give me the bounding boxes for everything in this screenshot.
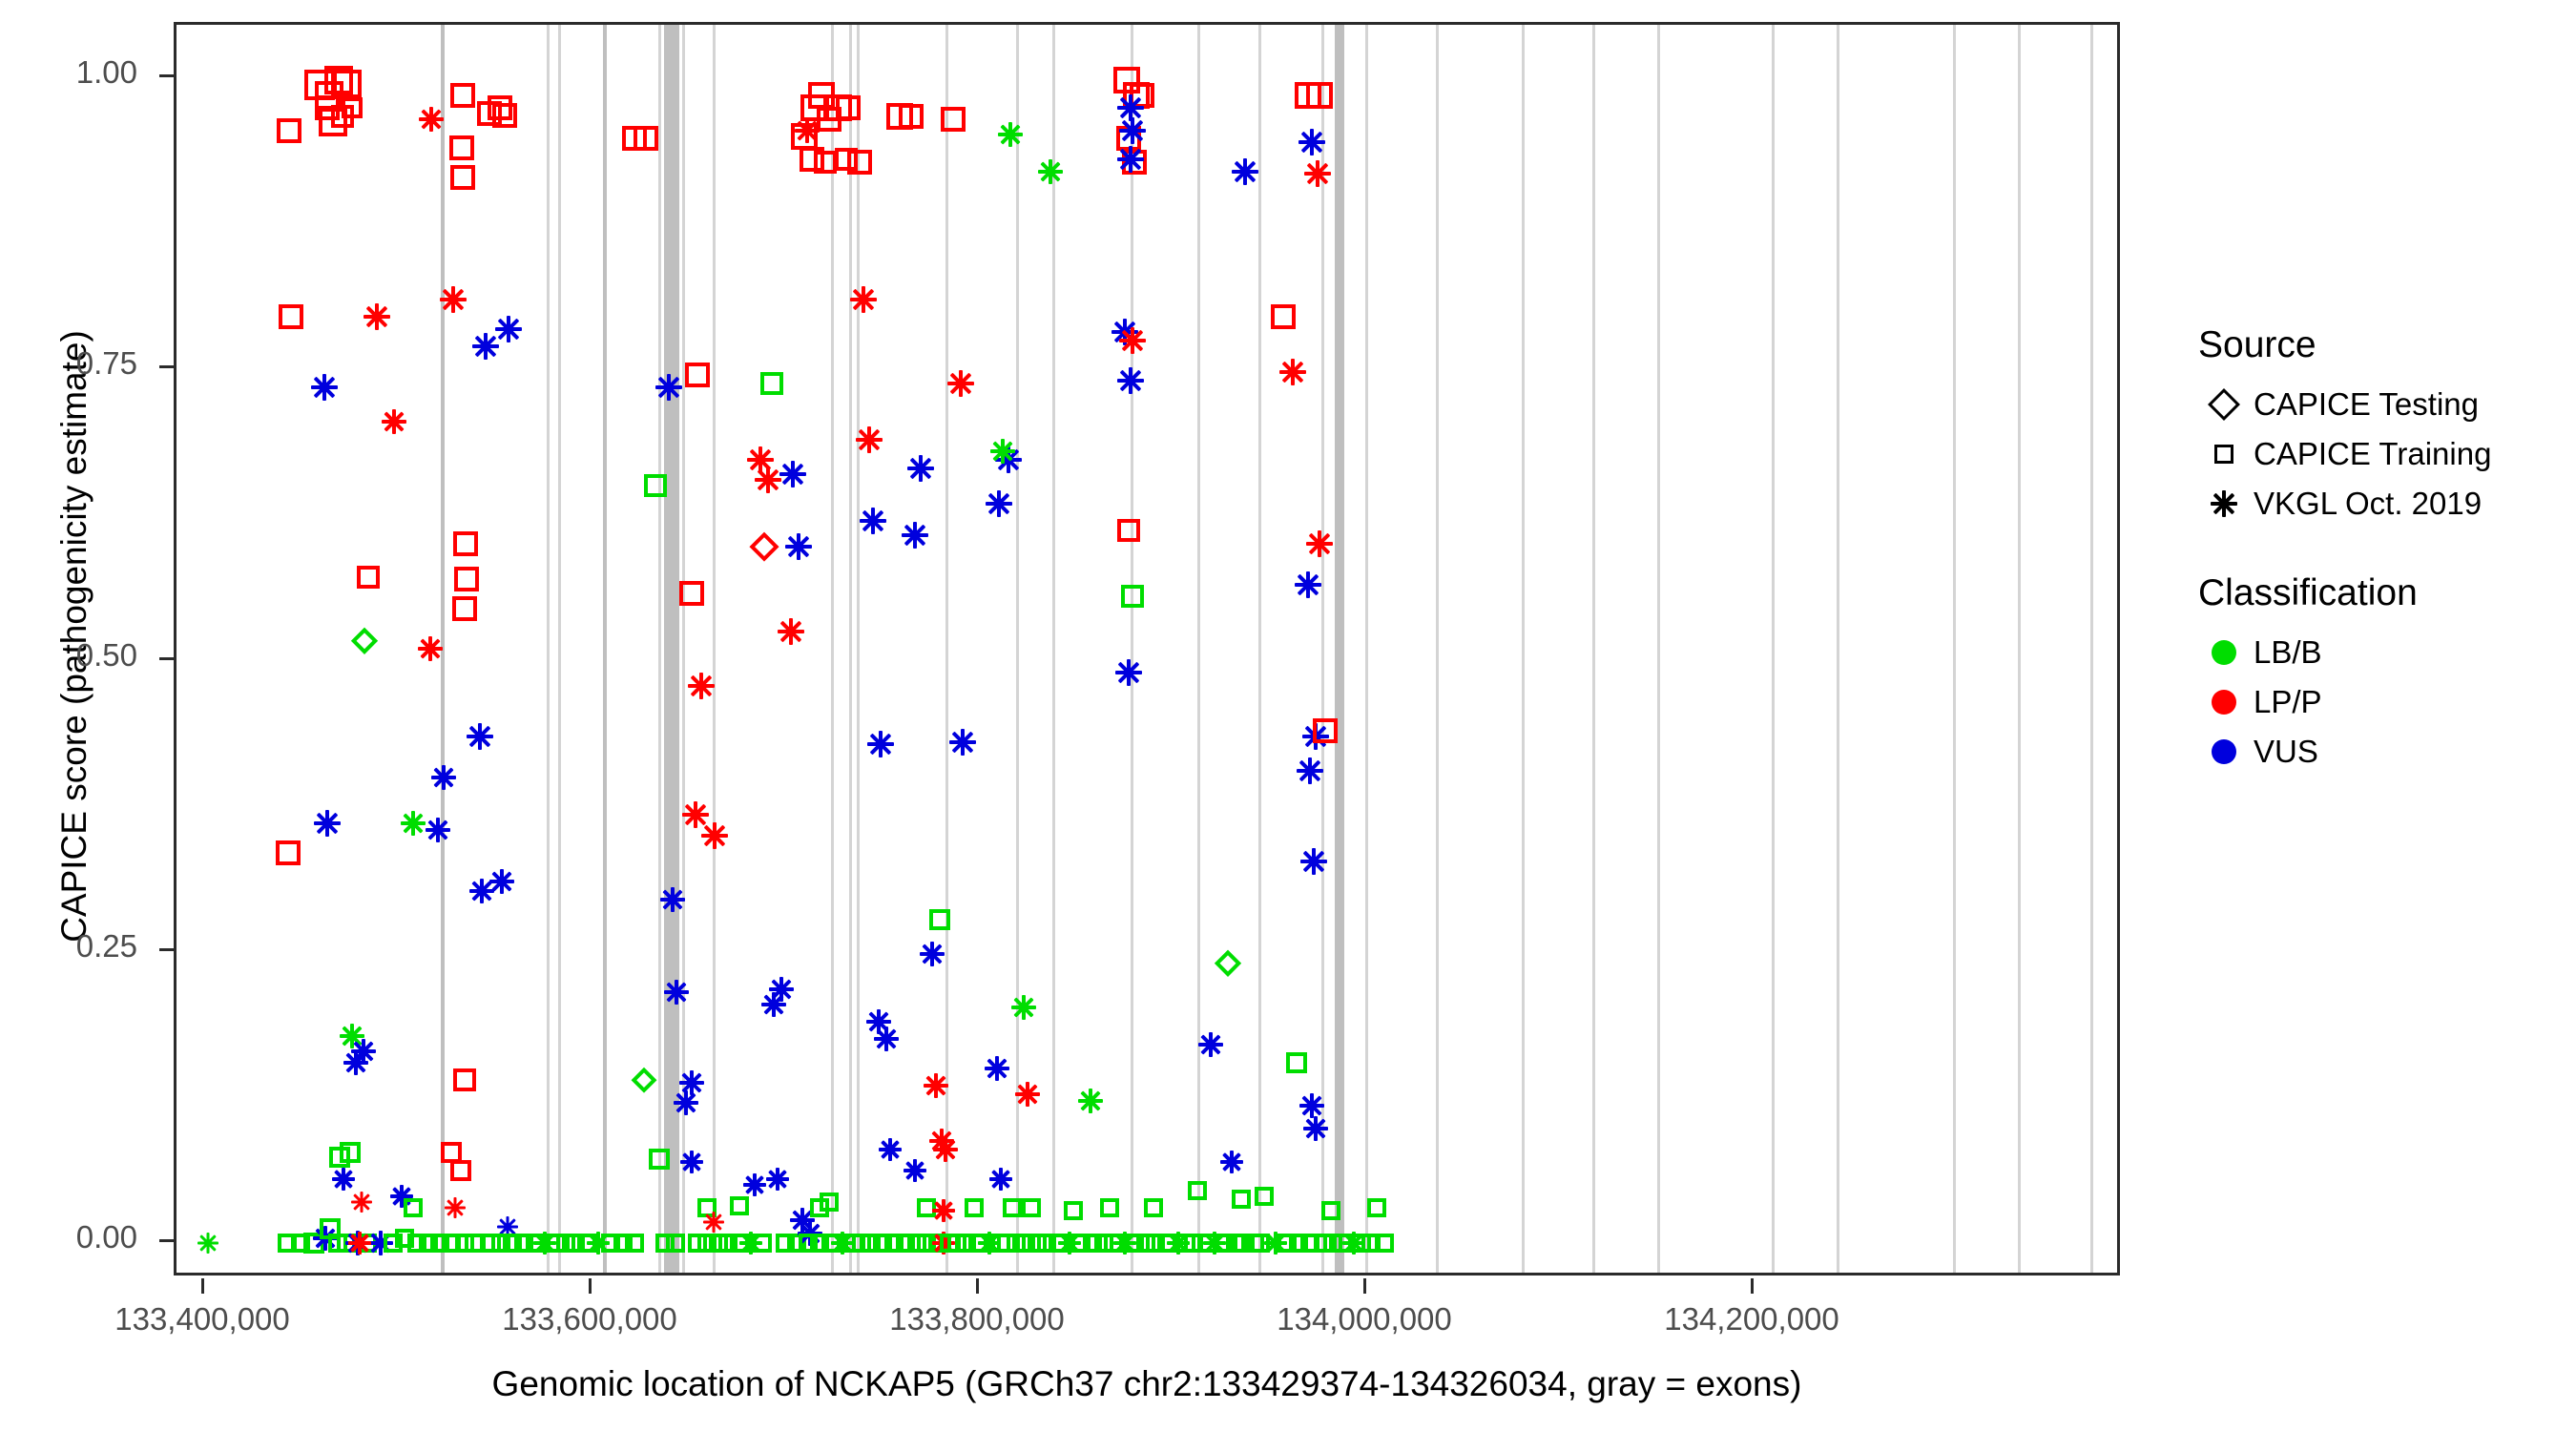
legend-spacer <box>2194 529 2576 572</box>
scatter-point <box>874 1027 899 1051</box>
scatter-point <box>303 1233 324 1254</box>
scatter-point <box>810 1234 829 1253</box>
scatter-point <box>779 461 806 487</box>
scatter-point <box>533 1232 556 1255</box>
scatter-point <box>430 1234 449 1253</box>
scatter-point <box>1300 1234 1319 1253</box>
scatter-point <box>1306 530 1333 557</box>
exon-band <box>1657 25 1660 1273</box>
scatter-point <box>419 1234 438 1253</box>
scatter-point <box>991 1234 1010 1253</box>
scatter-point <box>1038 159 1063 184</box>
scatter-point <box>688 673 715 699</box>
scatter-point <box>940 1234 959 1253</box>
scatter-point <box>320 1218 341 1239</box>
x-tick <box>976 1278 979 1294</box>
exon-band <box>713 25 716 1273</box>
x-tick <box>201 1278 204 1294</box>
x-tick <box>1363 1278 1366 1294</box>
y-tick <box>159 1239 174 1242</box>
scatter-point <box>778 618 804 645</box>
exon-band <box>1365 25 1368 1273</box>
scatter-point <box>311 374 338 401</box>
scatter-point <box>1361 1234 1381 1253</box>
scatter-point <box>957 1234 976 1253</box>
scatter-point <box>382 409 406 434</box>
scatter-point <box>1234 1234 1253 1253</box>
scatter-point <box>1226 1234 1245 1253</box>
scatter-point <box>747 446 774 473</box>
scatter-point <box>978 1232 1001 1255</box>
exon-band <box>658 25 661 1273</box>
scatter-point <box>907 1234 926 1253</box>
scatter-point <box>1064 1201 1083 1220</box>
scatter-point <box>332 1168 355 1191</box>
scatter-point <box>989 1168 1012 1191</box>
exon-band <box>1321 25 1324 1273</box>
scatter-point <box>333 70 362 98</box>
scatter-point <box>442 1234 461 1253</box>
scatter-point <box>1003 1198 1022 1217</box>
scatter-point <box>886 103 913 130</box>
exon-band <box>1131 25 1133 1273</box>
scatter-point <box>315 81 343 110</box>
scatter-point <box>1304 160 1331 187</box>
scatter-point <box>337 1234 356 1253</box>
scatter-point <box>351 1192 372 1213</box>
y-tick <box>159 365 174 368</box>
scatter-point <box>577 1234 596 1253</box>
scatter-point <box>850 286 877 313</box>
scatter-point <box>404 1198 423 1217</box>
scatter-point <box>753 1234 772 1253</box>
scatter-point <box>947 1234 966 1253</box>
scatter-point <box>452 596 477 621</box>
scatter-point <box>682 801 709 828</box>
scatter-point <box>730 1196 749 1215</box>
scatter-point <box>1303 1116 1328 1141</box>
scatter-point <box>1198 1032 1223 1057</box>
scatter-point <box>1123 82 1150 109</box>
scatter-point <box>688 1234 707 1253</box>
scatter-point <box>345 1231 370 1255</box>
scatter-point <box>453 531 478 556</box>
scatter-point <box>776 1234 795 1253</box>
scatter-point <box>454 567 479 591</box>
scatter-point <box>328 1234 347 1253</box>
exon-band <box>857 25 860 1273</box>
chart-root: CAPICE score (pathogenicity estimate) 0.… <box>0 0 2576 1431</box>
scatter-point <box>1232 1190 1251 1209</box>
scatter-point <box>331 105 354 128</box>
scatter-point <box>1122 150 1147 175</box>
scatter-point <box>810 1198 829 1217</box>
scatter-point <box>453 1068 476 1091</box>
y-tick <box>159 948 174 951</box>
scatter-point <box>760 372 783 395</box>
scatter-point <box>985 1056 1009 1081</box>
scatter-point <box>1125 1234 1144 1253</box>
scatter-point <box>1136 1234 1155 1253</box>
scatter-point <box>1342 1232 1365 1255</box>
exon-band <box>603 25 607 1273</box>
scatter-point <box>968 1234 987 1253</box>
scatter-point <box>324 66 353 94</box>
scatter-point <box>1100 1198 1119 1217</box>
scatter-point <box>790 1208 815 1233</box>
scatter-point <box>1271 304 1296 329</box>
exon-band <box>1772 25 1775 1273</box>
scatter-point <box>1367 1198 1386 1217</box>
scatter-point <box>348 1232 371 1255</box>
scatter-point <box>1083 1234 1102 1253</box>
legend-label: LB/B <box>2254 634 2322 671</box>
scatter-point <box>634 126 658 151</box>
scatter-point <box>932 1232 955 1255</box>
exon-band <box>1436 25 1439 1273</box>
scatter-point <box>351 1039 376 1064</box>
exon-band <box>1953 25 1956 1273</box>
exon-band <box>2018 25 2021 1273</box>
scatter-point <box>761 992 786 1017</box>
plot-panel <box>174 22 2120 1275</box>
scatter-point <box>799 1234 818 1253</box>
exon-band <box>1016 25 1019 1273</box>
scatter-point <box>445 1197 466 1218</box>
scatter-point <box>787 1234 806 1253</box>
scatter-point <box>449 135 474 160</box>
scatter-point <box>1016 1234 1035 1253</box>
scatter-point <box>279 304 303 329</box>
scatter-point <box>358 1234 377 1253</box>
scatter-point <box>917 1234 936 1253</box>
scatter-point <box>1255 1187 1274 1206</box>
scatter-point <box>800 94 827 121</box>
scatter-point <box>879 1138 902 1161</box>
scatter-point <box>917 1198 936 1217</box>
x-axis-title: Genomic location of NCKAP5 (GRCh37 chr2:… <box>174 1364 2120 1404</box>
scatter-point <box>1071 1234 1091 1253</box>
scatter-point <box>941 107 966 132</box>
scatter-point <box>319 108 347 136</box>
scatter-point <box>276 840 301 865</box>
scatter-point <box>1058 1232 1081 1255</box>
scatter-point <box>277 118 301 143</box>
scatter-point <box>986 490 1012 517</box>
scatter-point <box>340 1024 364 1048</box>
exon-band <box>1335 25 1344 1273</box>
scatter-point <box>1078 1089 1103 1113</box>
exon-band <box>1052 25 1055 1273</box>
scatter-point <box>798 1221 822 1246</box>
scatter-point <box>860 508 886 534</box>
color-dot-icon <box>2194 690 2254 715</box>
scatter-point <box>947 370 974 397</box>
scatter-point <box>990 439 1015 464</box>
scatter-point <box>907 455 934 482</box>
scatter-point <box>1297 757 1323 784</box>
scatter-point <box>904 1159 926 1182</box>
scatter-point <box>368 1231 393 1255</box>
scatter-point <box>1022 1198 1041 1217</box>
scatter-point <box>1144 1198 1163 1217</box>
scatter-point <box>364 303 390 330</box>
scatter-point <box>902 522 928 549</box>
exon-band <box>945 25 948 1273</box>
x-tick <box>1751 1278 1754 1294</box>
scatter-point <box>390 1185 413 1208</box>
scatter-point <box>1146 1234 1165 1253</box>
scatter-point <box>965 1198 984 1217</box>
scatter-point <box>817 107 841 132</box>
legend-entry[interactable]: VKGL Oct. 2019 <box>2194 479 2576 529</box>
scatter-point <box>526 1234 545 1253</box>
scatter-point <box>622 126 647 151</box>
x-tick-label: 134,200,000 <box>1664 1301 1839 1338</box>
x-tick-label: 133,800,000 <box>889 1301 1065 1338</box>
exon-band <box>1837 25 1839 1273</box>
scatter-point <box>743 1173 766 1196</box>
scatter-point <box>329 1147 350 1168</box>
scatter-point <box>932 1199 955 1222</box>
exon-band <box>2090 25 2093 1273</box>
scatter-point <box>278 1234 297 1253</box>
scatter-point <box>844 1234 863 1253</box>
scatter-point <box>492 103 517 128</box>
exon-band <box>558 25 561 1273</box>
legend-title: Classification <box>2198 572 2576 614</box>
y-tick-label: 1.00 <box>76 54 137 91</box>
scatter-point <box>949 729 976 756</box>
exon-band <box>664 25 679 1273</box>
scatter-point <box>884 1234 904 1253</box>
scatter-point <box>1215 950 1242 978</box>
scatter-point <box>785 533 812 560</box>
scatter-point <box>495 316 522 342</box>
scatter-point <box>1157 1234 1176 1253</box>
scatter-point <box>1278 1234 1297 1253</box>
scatter-point <box>791 123 818 150</box>
y-tick <box>159 74 174 77</box>
scatter-point <box>750 531 779 561</box>
scatter-point <box>613 1234 633 1253</box>
scatter-point <box>314 810 341 837</box>
x-tick <box>589 1278 592 1294</box>
scatter-point <box>304 70 335 100</box>
scatter-point <box>1295 82 1321 109</box>
scatter-point <box>1028 1234 1047 1253</box>
scatter-point <box>1011 995 1036 1020</box>
scatter-point <box>1115 659 1142 686</box>
scatter-point <box>1111 319 1138 345</box>
scatter-point <box>407 1234 426 1253</box>
scatter-point <box>997 1234 1016 1253</box>
exon-band <box>1592 25 1595 1273</box>
scatter-point <box>426 818 450 842</box>
scatter-point <box>929 1129 954 1153</box>
scatter-point <box>873 1234 892 1253</box>
scatter-point <box>820 1192 839 1212</box>
scatter-point <box>718 1234 737 1253</box>
scatter-point <box>1197 1234 1216 1253</box>
scatter-point <box>482 1234 501 1253</box>
scatter-point <box>1184 1234 1203 1253</box>
scatter-point <box>1295 571 1321 598</box>
exon-band <box>849 25 852 1273</box>
scatter-point <box>489 869 514 894</box>
legend-label: LP/P <box>2254 684 2322 720</box>
scatter-point <box>477 101 502 126</box>
scatter-point <box>739 1232 762 1255</box>
scatter-point <box>1352 1234 1371 1253</box>
scatter-point <box>1302 723 1329 750</box>
scatter-point <box>384 1234 403 1253</box>
scatter-point <box>1232 158 1258 185</box>
x-tick-label: 133,400,000 <box>114 1301 290 1338</box>
legend: SourceCAPICE TestingCAPICE TrainingVKGL … <box>2194 324 2576 777</box>
scatter-point <box>866 1009 891 1034</box>
scatter-point <box>755 467 781 493</box>
scatter-point <box>455 1234 474 1253</box>
scatter-point <box>469 879 494 903</box>
legend-entry[interactable]: CAPICE Testing <box>2194 380 2576 429</box>
scatter-point <box>632 1068 656 1092</box>
scatter-point <box>1167 1232 1190 1255</box>
legend-entry[interactable]: CAPICE Training <box>2194 429 2576 479</box>
scatter-point <box>896 1234 915 1253</box>
square-icon <box>2194 445 2254 464</box>
scatter-point <box>342 97 363 118</box>
scatter-point <box>497 1216 518 1237</box>
y-tick-label: 0.25 <box>76 928 137 964</box>
asterisk-icon <box>2194 490 2254 517</box>
scatter-point <box>795 118 820 143</box>
scatter-point <box>852 1234 871 1253</box>
scatter-point <box>197 1233 218 1254</box>
diamond-icon <box>2194 393 2254 416</box>
scatter-point <box>488 95 512 120</box>
scatter-point <box>1203 1232 1226 1255</box>
scatter-point <box>835 148 858 171</box>
exon-band <box>441 25 445 1273</box>
exon-band <box>1522 25 1525 1273</box>
scatter-point <box>800 147 824 172</box>
scatter-point <box>1113 67 1140 93</box>
scatter-point <box>998 122 1023 147</box>
scatter-point <box>503 1234 522 1253</box>
scatter-point <box>1117 519 1140 542</box>
scatter-point <box>1116 126 1141 151</box>
y-tick-label: 0.50 <box>76 637 137 674</box>
scatter-point <box>825 94 852 121</box>
scatter-point <box>856 426 883 453</box>
scatter-point <box>547 1234 566 1253</box>
y-tick-label: 0.00 <box>76 1219 137 1255</box>
scatter-point <box>1375 1234 1394 1253</box>
scatter-point <box>1104 1234 1123 1253</box>
scatter-point <box>343 1050 368 1075</box>
scatter-point <box>566 1234 585 1253</box>
y-tick <box>159 657 174 660</box>
scatter-point <box>1306 82 1333 109</box>
scatter-point <box>928 1234 947 1253</box>
scatter-point <box>418 636 443 661</box>
legend-label: VUS <box>2254 734 2318 770</box>
scatter-point <box>1176 1234 1195 1253</box>
scatter-point <box>730 1234 749 1253</box>
scatter-point <box>357 566 380 589</box>
legend-label: CAPICE Testing <box>2254 386 2479 423</box>
scatter-point <box>1245 1234 1264 1253</box>
scatter-point <box>685 363 710 387</box>
color-dot-icon <box>2194 739 2254 764</box>
legend-entry[interactable]: LP/P <box>2194 677 2576 727</box>
scatter-point <box>709 1234 728 1253</box>
exon-band <box>1197 25 1200 1273</box>
scatter-point <box>291 1234 310 1253</box>
scatter-point <box>862 1234 881 1253</box>
scatter-point <box>1049 1234 1068 1253</box>
scatter-point <box>450 165 475 190</box>
exon-band <box>682 25 685 1273</box>
y-tick-label: 0.75 <box>76 345 137 382</box>
legend-entry[interactable]: LB/B <box>2194 628 2576 677</box>
scatter-point <box>491 1234 510 1253</box>
scatter-point <box>1279 359 1306 385</box>
exon-band <box>831 25 834 1273</box>
scatter-point <box>899 104 924 129</box>
scatter-point <box>625 1234 644 1253</box>
scatter-point <box>1215 1234 1234 1253</box>
scatter-point <box>467 723 493 750</box>
exon-band <box>547 25 550 1273</box>
scatter-point <box>920 942 945 966</box>
scatter-point <box>1220 1151 1243 1173</box>
scatter-point <box>766 1168 789 1191</box>
scatter-point <box>1264 1232 1287 1255</box>
x-tick-label: 134,000,000 <box>1277 1301 1452 1338</box>
scatter-point <box>769 977 794 1002</box>
scatter-point <box>867 731 894 757</box>
scatter-point <box>395 1229 414 1248</box>
scatter-point <box>465 1234 484 1253</box>
scatter-point <box>450 83 475 108</box>
scatter-point <box>351 627 379 654</box>
x-tick-label: 133,600,000 <box>502 1301 677 1338</box>
legend-label: VKGL Oct. 2019 <box>2254 486 2482 522</box>
color-dot-icon <box>2194 640 2254 665</box>
scatter-point <box>401 811 426 836</box>
scatter-point <box>313 1226 338 1251</box>
scatter-point <box>315 95 340 120</box>
legend-entry[interactable]: VUS <box>2194 727 2576 777</box>
scatter-point <box>1094 1234 1113 1253</box>
scatter-point <box>1286 1052 1307 1073</box>
legend-title: Source <box>2198 324 2576 366</box>
scatter-point <box>340 1142 361 1163</box>
legend-label: CAPICE Training <box>2254 436 2491 472</box>
scatter-point <box>450 1160 471 1181</box>
scatter-point <box>514 1234 533 1253</box>
scatter-point <box>1289 1234 1308 1253</box>
scatter-point <box>472 333 499 360</box>
exon-band <box>1258 25 1261 1273</box>
